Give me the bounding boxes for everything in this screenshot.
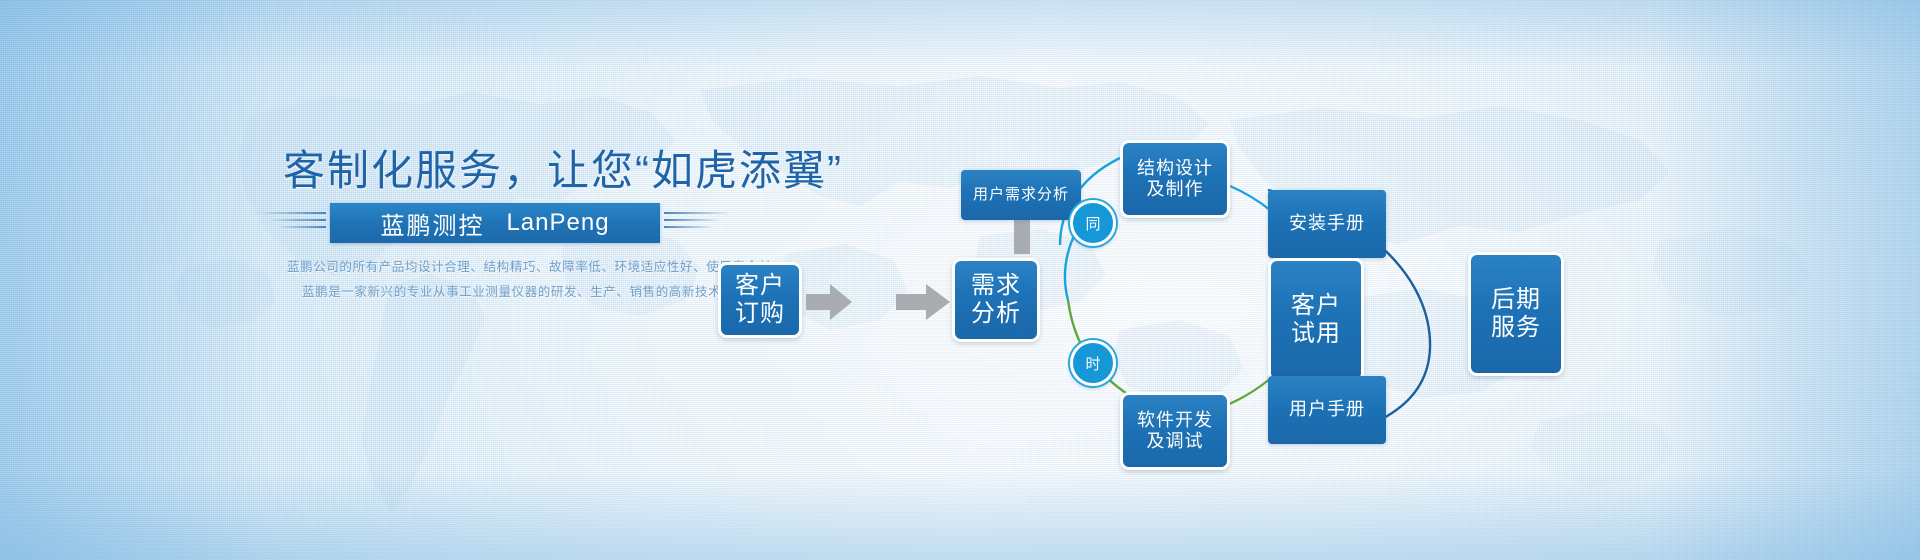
- node-installation-manual[interactable]: 安装手册: [1268, 190, 1386, 258]
- node-user-requirement-analysis[interactable]: 用户需求分析: [961, 170, 1081, 220]
- badge-label: 同: [1085, 213, 1100, 234]
- page-title: 客制化服务，让您“如虎添翼”: [283, 137, 843, 198]
- node-label: 后期 服务: [1491, 286, 1541, 343]
- arrow-analysis-to-requirement: [806, 282, 854, 322]
- node-label: 客户 试用: [1291, 292, 1341, 349]
- decorative-lines-right: [664, 212, 732, 233]
- node-software-development[interactable]: 软件开发 及调试: [1120, 392, 1230, 470]
- decorative-lines-left: [258, 212, 326, 233]
- node-customer-trial[interactable]: 客户 试用: [1268, 258, 1364, 382]
- brand-name-cn: 蓝鹏测控: [380, 206, 484, 241]
- node-after-sales-service[interactable]: 后期 服务: [1468, 252, 1564, 376]
- badge-tong: 同: [1070, 200, 1116, 246]
- node-label: 需求 分析: [971, 272, 1021, 329]
- brand-name-en: LanPeng: [506, 209, 609, 237]
- node-customer-order[interactable]: 客户 订购: [718, 262, 802, 338]
- node-label: 安装手册: [1289, 213, 1365, 234]
- node-label: 用户手册: [1289, 399, 1365, 420]
- node-user-manual[interactable]: 用户手册: [1268, 376, 1386, 444]
- node-label: 软件开发 及调试: [1137, 410, 1213, 452]
- badge-label: 时: [1085, 353, 1100, 374]
- node-label: 客户 订购: [735, 272, 785, 329]
- promo-banner: 客制化服务，让您“如虎添翼” 蓝鹏测控 LanPeng 蓝鹏公司的所有产品均设计…: [0, 0, 1920, 560]
- subtitle-line-2: 蓝鹏是一家新兴的专业从事工业测量仪器的研发、生产、销售的高新技术企业。: [302, 281, 761, 300]
- node-label: 结构设计 及制作: [1137, 158, 1213, 200]
- badge-shi: 时: [1070, 340, 1116, 386]
- arrow-order-to-analysis: [896, 282, 952, 322]
- brand-bar: 蓝鹏测控 LanPeng: [330, 203, 660, 243]
- node-label: 用户需求分析: [973, 186, 1069, 204]
- node-structural-design[interactable]: 结构设计 及制作: [1120, 140, 1230, 218]
- node-requirement-analysis[interactable]: 需求 分析: [952, 258, 1040, 342]
- subtitle-line-1: 蓝鹏公司的所有产品均设计合理、结构精巧、故障率低、环境适应性好、使用寿命长。: [287, 256, 785, 275]
